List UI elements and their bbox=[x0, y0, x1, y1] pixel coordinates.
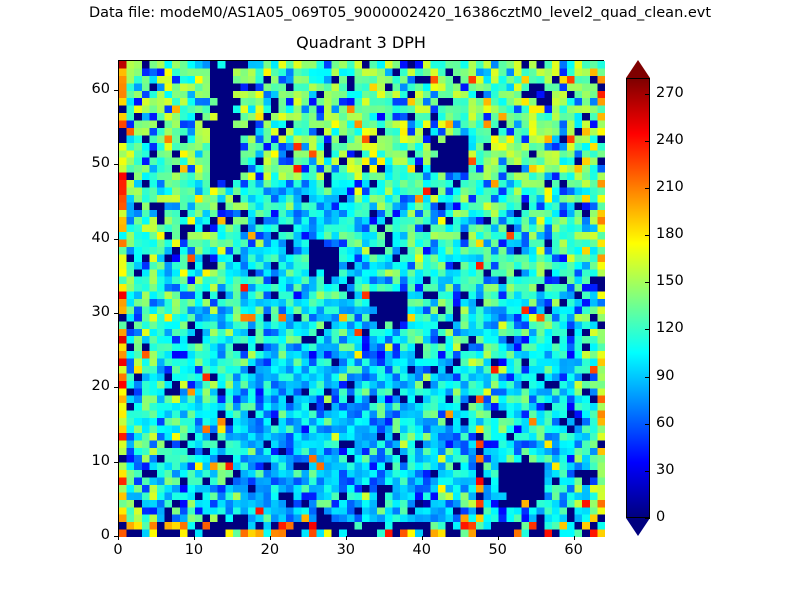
colorbar-tick-label: 210 bbox=[656, 179, 684, 195]
colorbar[interactable] bbox=[626, 60, 650, 536]
colorbar-extend-min-arrow-icon bbox=[626, 518, 650, 536]
colorbar-tick-mark bbox=[645, 518, 650, 519]
colorbar-tick-mark bbox=[645, 329, 650, 330]
x-tick-label: 20 bbox=[240, 542, 300, 558]
x-tick-label: 50 bbox=[468, 542, 528, 558]
colorbar-tick-mark bbox=[645, 235, 650, 236]
y-tick-label: 10 bbox=[50, 453, 110, 469]
colorbar-tick-mark bbox=[645, 424, 650, 425]
y-tick-mark bbox=[114, 164, 118, 165]
colorbar-tick-label: 240 bbox=[656, 132, 684, 148]
colorbar-extend-max-arrow-icon bbox=[626, 60, 650, 78]
x-tick-mark bbox=[574, 536, 575, 540]
x-tick-label: 30 bbox=[316, 542, 376, 558]
x-tick-mark bbox=[194, 536, 195, 540]
colorbar-tick-label: 90 bbox=[656, 368, 674, 384]
y-tick-label: 60 bbox=[50, 81, 110, 97]
y-tick-mark bbox=[114, 239, 118, 240]
y-tick-label: 30 bbox=[50, 304, 110, 320]
data-file-label: Data file: modeM0/AS1A05_069T05_90000024… bbox=[0, 5, 800, 21]
y-tick-label: 20 bbox=[50, 378, 110, 394]
colorbar-tick-label: 150 bbox=[656, 273, 684, 289]
heatmap-axes[interactable] bbox=[118, 60, 604, 536]
x-tick-mark bbox=[118, 536, 119, 540]
y-tick-label: 40 bbox=[50, 230, 110, 246]
heatmap-image[interactable] bbox=[119, 61, 605, 537]
y-tick-mark bbox=[114, 90, 118, 91]
colorbar-tick-mark bbox=[645, 94, 650, 95]
colorbar-tick-mark bbox=[645, 282, 650, 283]
colorbar-tick-label: 270 bbox=[656, 85, 684, 101]
colorbar-tick-label: 60 bbox=[656, 415, 674, 431]
x-tick-mark bbox=[422, 536, 423, 540]
x-tick-label: 0 bbox=[88, 542, 148, 558]
colorbar-tick-mark bbox=[645, 377, 650, 378]
y-tick-mark bbox=[114, 536, 118, 537]
y-tick-mark bbox=[114, 387, 118, 388]
y-tick-mark bbox=[114, 313, 118, 314]
x-tick-mark bbox=[270, 536, 271, 540]
x-tick-label: 40 bbox=[392, 542, 452, 558]
colorbar-tick-label: 180 bbox=[656, 226, 684, 242]
colorbar-body[interactable] bbox=[626, 78, 650, 518]
colorbar-tick-mark bbox=[645, 471, 650, 472]
colorbar-tick-mark bbox=[645, 141, 650, 142]
y-tick-label: 50 bbox=[50, 155, 110, 171]
colorbar-tick-mark bbox=[645, 188, 650, 189]
x-tick-mark bbox=[346, 536, 347, 540]
x-tick-label: 10 bbox=[164, 542, 224, 558]
y-tick-label: 0 bbox=[50, 527, 110, 543]
y-tick-mark bbox=[114, 462, 118, 463]
colorbar-tick-label: 120 bbox=[656, 320, 684, 336]
x-tick-label: 60 bbox=[544, 542, 604, 558]
x-tick-mark bbox=[498, 536, 499, 540]
colorbar-tick-label: 30 bbox=[656, 462, 674, 478]
colorbar-gradient bbox=[627, 79, 649, 517]
chart-title: Quadrant 3 DPH bbox=[118, 33, 604, 52]
colorbar-tick-label: 0 bbox=[656, 509, 665, 525]
